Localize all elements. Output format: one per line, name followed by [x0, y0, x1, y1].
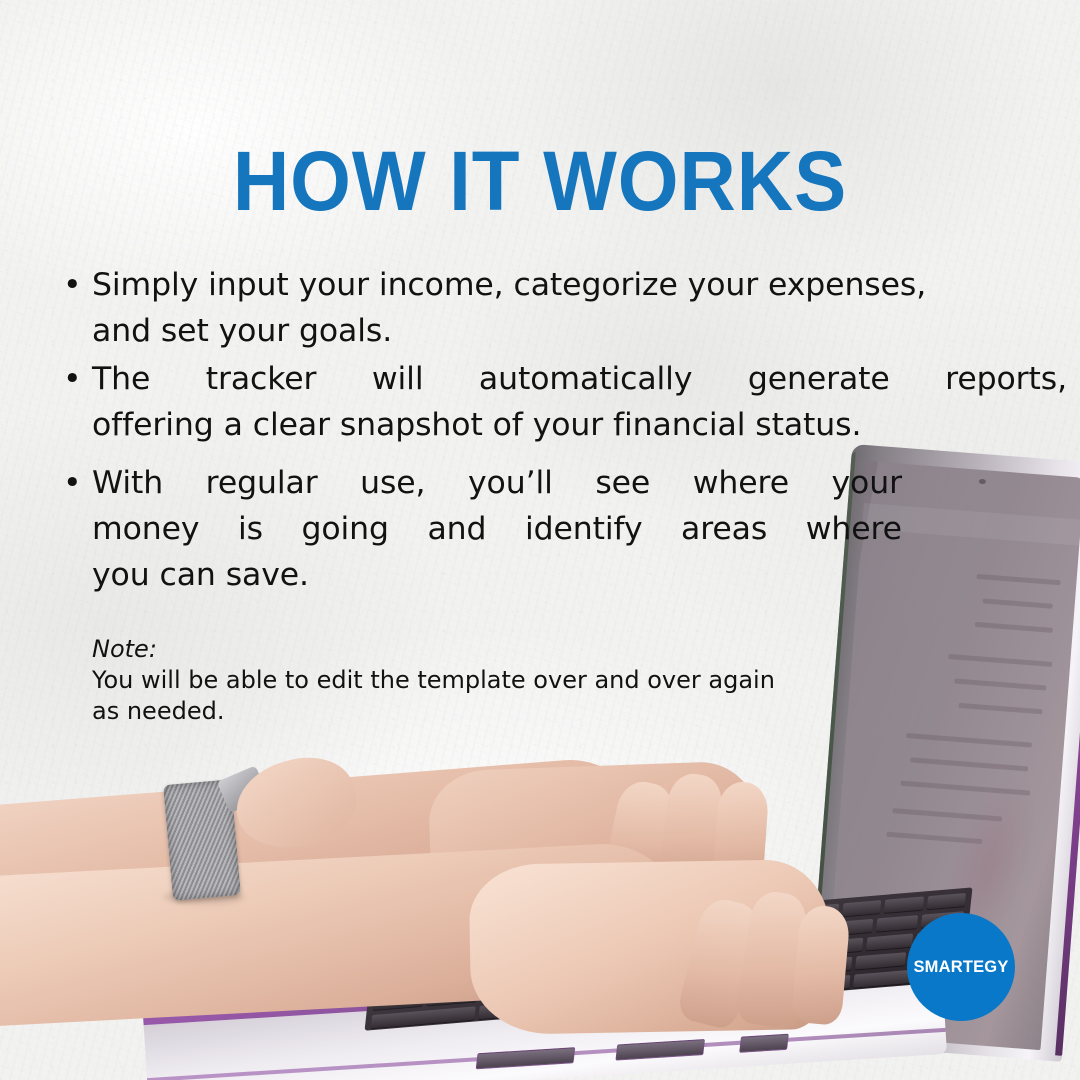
bullet-line: With regular use, you’ll see where your — [92, 460, 902, 506]
word: your — [832, 460, 902, 506]
bullet-marker: • — [63, 262, 81, 308]
smartegy-logo-label: SMARTEGY — [913, 958, 1008, 977]
list-item: • With regular use, you’ll see where you… — [58, 460, 902, 598]
bullet-line: and set your goals. — [92, 308, 1067, 354]
word: tracker — [206, 356, 317, 402]
note-line-2: as needed. — [92, 696, 775, 727]
bullet-line: money is going and identify areas where — [92, 506, 902, 552]
bullet-line: offering a clear snapshot of your financ… — [92, 402, 1067, 448]
word: generate — [748, 356, 890, 402]
word: use, — [360, 460, 425, 506]
laptop-front-slot-3 — [739, 1034, 789, 1053]
word: is — [238, 506, 263, 552]
note-label: Note: — [92, 633, 775, 665]
word: identify — [525, 506, 643, 552]
smartegy-logo-badge[interactable]: SMARTEGY — [907, 913, 1015, 1021]
word: will — [372, 356, 424, 402]
word: automatically — [479, 356, 692, 402]
word: see — [595, 460, 650, 506]
word: you’ll — [468, 460, 553, 506]
bullet-list: • Simply input your income, categorize y… — [58, 262, 1033, 598]
note-line-1: You will be able to edit the template ov… — [92, 665, 775, 696]
word: With — [92, 460, 163, 506]
word: The — [92, 356, 150, 402]
page-title: HOW IT WORKS — [38, 139, 1042, 223]
slide-canvas: HOW IT WORKS • Simply input your income,… — [0, 0, 1080, 1080]
word: reports, — [945, 356, 1067, 402]
word: areas — [681, 506, 767, 552]
word: regular — [206, 460, 318, 506]
bullet-marker: • — [63, 356, 81, 402]
list-item: • The tracker will automatically generat… — [58, 356, 1067, 448]
list-item: • Simply input your income, categorize y… — [58, 262, 1067, 354]
word: where — [693, 460, 789, 506]
bullet-marker: • — [63, 460, 81, 506]
wristwatch — [163, 779, 241, 900]
word: and — [427, 506, 486, 552]
word: money — [92, 506, 199, 552]
word: where — [806, 506, 902, 552]
bullet-line: you can save. — [92, 552, 902, 598]
bullet-line: The tracker will automatically generate … — [92, 356, 1067, 402]
bullet-line: Simply input your income, categorize you… — [92, 262, 1067, 308]
note-block: Note: You will be able to edit the templ… — [92, 633, 775, 727]
word: going — [301, 506, 388, 552]
